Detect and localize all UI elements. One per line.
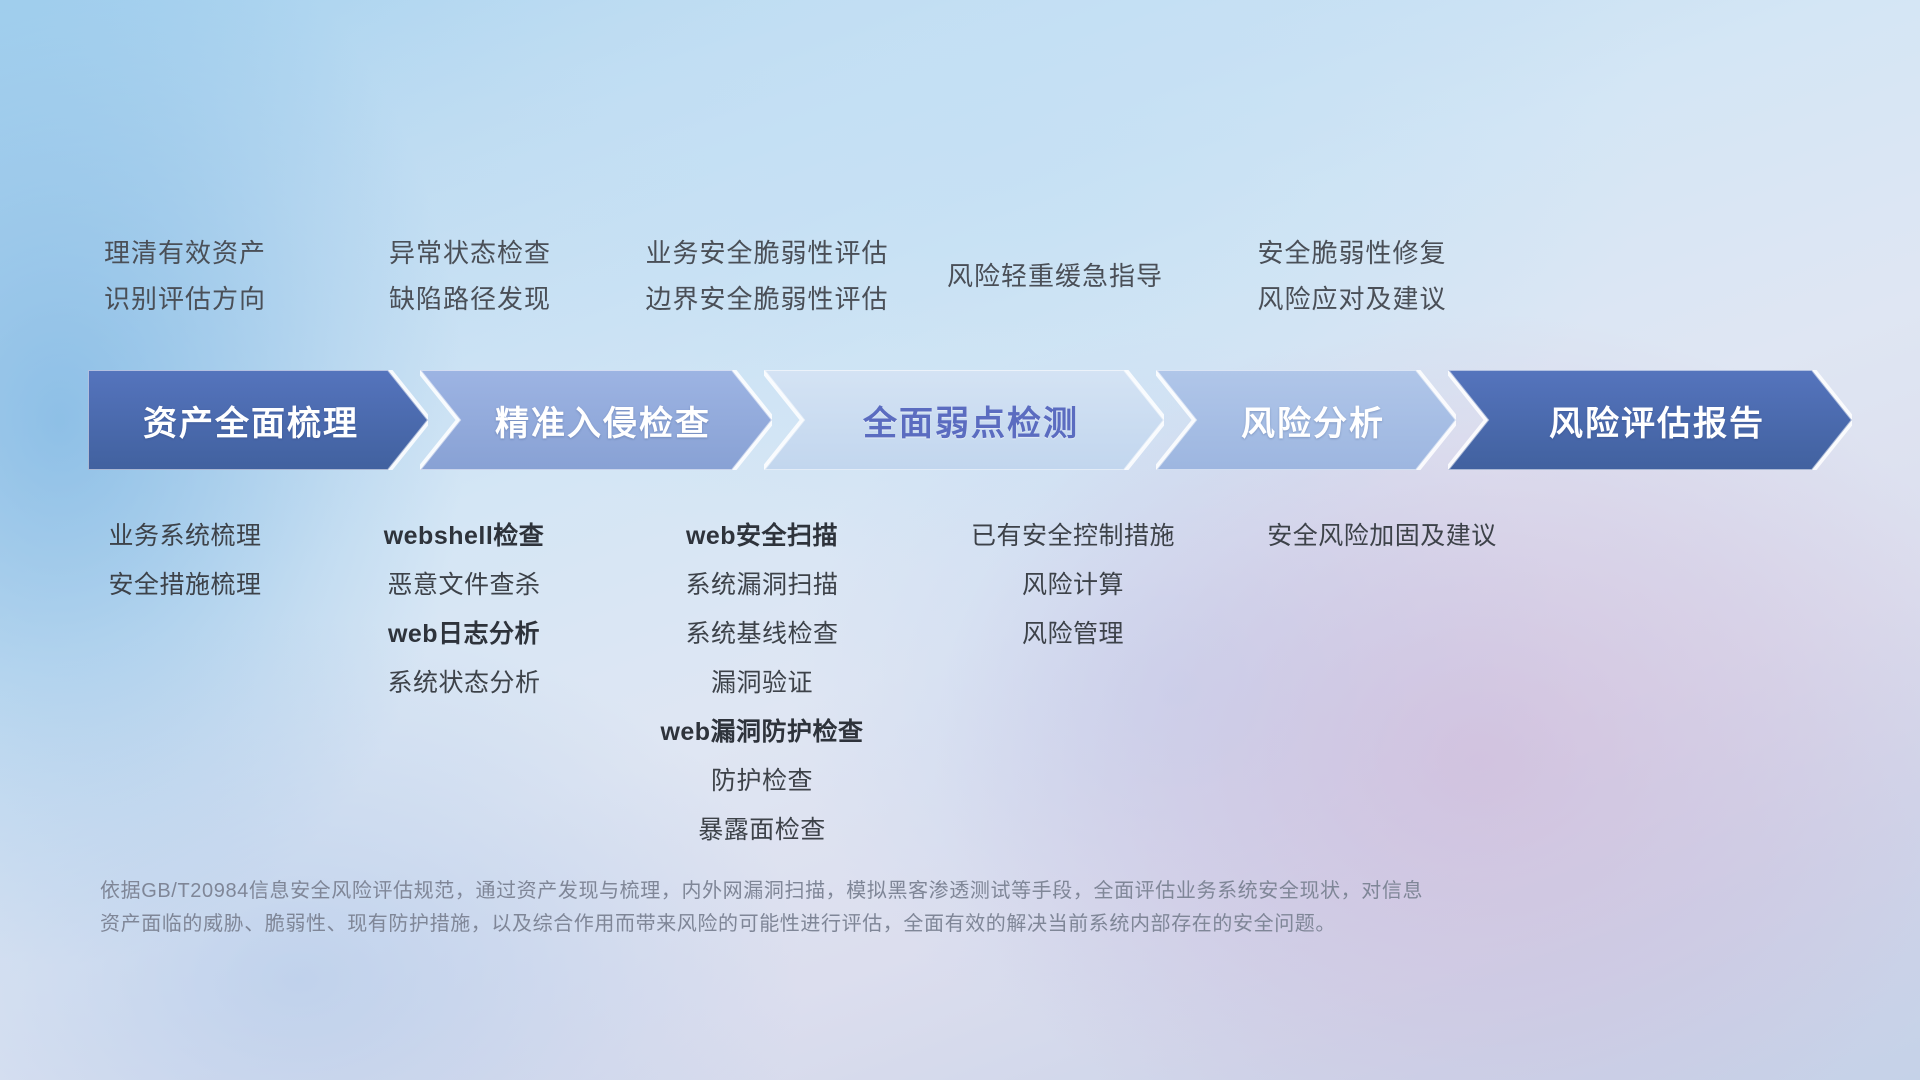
stage-top-labels-5: 安全脆弱性修复风险应对及建议	[1152, 230, 1552, 322]
top-label: 安全脆弱性修复	[1152, 230, 1552, 276]
process-chevron-band: 资产全面梳理精准入侵检查全面弱点检测风险分析风险评估报告	[88, 370, 1854, 470]
risk-assessment-process-diagram: 理清有效资产识别评估方向异常状态检查缺陷路径发现业务安全脆弱性评估边界安全脆弱性…	[0, 0, 1920, 1080]
list-item: 防护检查	[552, 757, 972, 806]
stage-title: 全面弱点检测	[863, 396, 1079, 445]
process-stage-2[interactable]: 精准入侵检查	[420, 370, 772, 470]
process-stage-4[interactable]: 风险分析	[1156, 370, 1456, 470]
footer-line-1: 依据GB/T20984信息安全风险评估规范，通过资产发现与梳理，内外网漏洞扫描，…	[100, 875, 1640, 908]
list-item: 漏洞验证	[552, 659, 972, 708]
top-label: 风险应对及建议	[1152, 276, 1552, 322]
list-item: 风险计算	[863, 561, 1283, 610]
footer-line-2: 资产面临的威胁、脆弱性、现有防护措施，以及综合作用而带来风险的可能性进行评估，全…	[100, 908, 1640, 941]
top-label-row: 理清有效资产识别评估方向异常状态检查缺陷路径发现业务安全脆弱性评估边界安全脆弱性…	[0, 230, 1920, 340]
stage-title: 资产全面梳理	[143, 396, 359, 445]
list-item: 风险管理	[863, 610, 1283, 659]
footer-description: 依据GB/T20984信息安全风险评估规范，通过资产发现与梳理，内外网漏洞扫描，…	[100, 875, 1640, 941]
stage-detail-list-5: 安全风险加固及建议	[1172, 512, 1592, 561]
stage-title: 风险分析	[1241, 396, 1385, 445]
list-item: 安全风险加固及建议	[1172, 512, 1592, 561]
list-item: web漏洞防护检查	[552, 708, 972, 757]
process-stage-1[interactable]: 资产全面梳理	[88, 370, 428, 470]
stage-title: 风险评估报告	[1549, 396, 1765, 445]
process-stage-5[interactable]: 风险评估报告	[1448, 370, 1852, 470]
list-item: 暴露面检查	[552, 806, 972, 855]
process-stage-3[interactable]: 全面弱点检测	[764, 370, 1164, 470]
stage-title: 精准入侵检查	[495, 396, 711, 445]
